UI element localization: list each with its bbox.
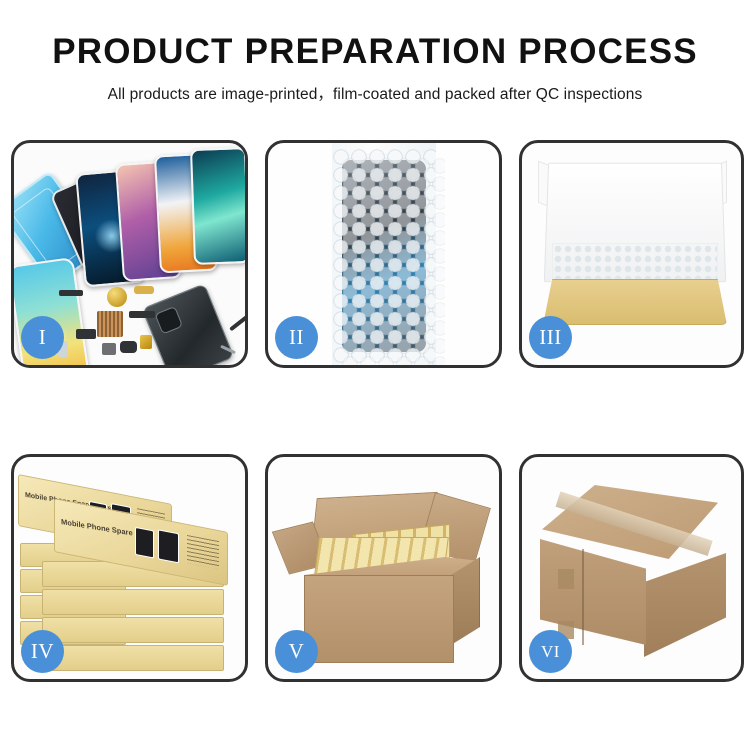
carton-seam-icon <box>582 549 584 645</box>
step-badge-5: V <box>275 630 318 673</box>
box-speclines-b <box>187 535 219 569</box>
stacked-box-r2 <box>42 589 224 615</box>
step-panel-4[interactable]: Mobile Phone Spare Parts Mobile Phone Sp… <box>11 454 248 682</box>
step-panel-2[interactable]: II <box>265 140 502 368</box>
sealed-carton-front-icon <box>540 539 646 645</box>
page-subtitle: All products are image-printed，film-coat… <box>0 82 750 104</box>
circuit-board-part-icon <box>97 311 123 337</box>
part-flex-cable-2-icon <box>129 311 155 318</box>
kraft-tray-icon <box>543 279 727 325</box>
stacked-box-r3 <box>42 617 224 643</box>
step-badge-4: IV <box>21 630 64 673</box>
step-panel-1[interactable]: I <box>11 140 248 368</box>
step-badge-6: VI <box>529 630 572 673</box>
sealed-carton-right-icon <box>644 553 726 657</box>
bubble-wrap-overlay-icon <box>341 157 445 365</box>
part-connector-1-icon <box>59 290 83 296</box>
part-camera-icon <box>102 343 116 355</box>
phone-back-housing-icon <box>141 283 234 365</box>
speaker-part-icon <box>107 287 127 307</box>
step-panel-6[interactable]: VI <box>519 454 744 682</box>
step-badge-3: III <box>529 316 572 359</box>
step-panel-3[interactable]: III <box>519 140 744 368</box>
process-steps-grid: I II III <box>11 140 740 682</box>
carton-front-icon <box>304 575 454 663</box>
step-badge-1: I <box>21 316 64 359</box>
page-title: PRODUCT PREPARATION PROCESS <box>0 34 750 71</box>
part-battery-icon <box>140 335 152 349</box>
part-button-icon <box>76 329 96 339</box>
stacked-box-r4 <box>42 645 224 671</box>
carton-tab-top-icon <box>558 569 574 589</box>
phone-screen-teal-icon <box>190 147 245 265</box>
step-panel-5[interactable]: V <box>265 454 502 682</box>
part-taptic-icon <box>120 341 137 353</box>
step-badge-2: II <box>275 316 318 359</box>
infographic-page: PRODUCT PREPARATION PROCESS All products… <box>0 0 750 750</box>
header: PRODUCT PREPARATION PROCESS All products… <box>0 0 750 104</box>
box-window-b1 <box>135 527 154 559</box>
part-flex-cable-1-icon <box>134 286 154 294</box>
box-window-b2 <box>158 529 179 563</box>
tweezers-icon <box>229 315 245 332</box>
